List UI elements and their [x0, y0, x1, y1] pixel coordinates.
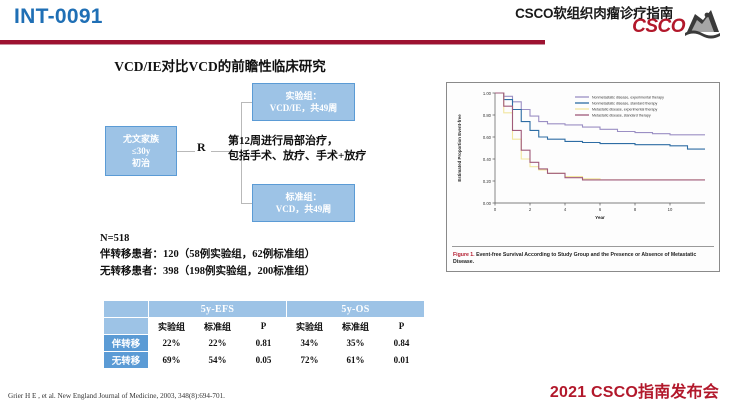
svg-text:0.00: 0.00: [483, 201, 492, 206]
randomization-label: R: [197, 140, 206, 155]
stats-total: N=518: [100, 231, 315, 247]
table-corner-cell: [104, 301, 149, 318]
results-table: 5y-EFS 5y-OS 实验组 标准组 P 实验组 标准组 P 伴转移 22%…: [103, 300, 425, 369]
csco-logo: CSCO: [611, 14, 723, 46]
cell-nonmet-os-p: 0.01: [379, 352, 425, 369]
slide-root: INT-0091 CSCO软组织肉瘤诊疗指南 CSCO VCD/IE对比VCD的…: [0, 0, 731, 405]
kaplan-meier-chart: 0.000.200.400.600.801.000246810YearEstim…: [447, 83, 719, 238]
cell-nonmet-efs-p: 0.05: [241, 352, 287, 369]
cell-met-os-exp: 34%: [287, 335, 333, 352]
svg-text:2: 2: [529, 207, 532, 212]
citation: Grier H E , et al. New England Journal o…: [8, 392, 225, 400]
cell-met-efs-std: 22%: [195, 335, 241, 352]
svg-text:1.00: 1.00: [483, 91, 492, 96]
svg-text:Metastatic disease, experiment: Metastatic disease, experimental therapy: [592, 108, 658, 112]
cell-nonmet-efs-std: 54%: [195, 352, 241, 369]
table-group-header-os: 5y-OS: [287, 301, 425, 318]
svg-text:Metastatic disease, standard t: Metastatic disease, standard therapy: [592, 114, 651, 118]
svg-text:0.20: 0.20: [483, 179, 492, 184]
csco-logo-text: CSCO: [632, 16, 685, 38]
cell-met-efs-p: 0.81: [241, 335, 287, 352]
standard-arm-line2: VCD，共49周: [276, 203, 332, 215]
table-subheader-efs-exp: 实验组: [149, 318, 195, 335]
svg-text:4: 4: [564, 207, 567, 212]
connector-pop-to-r: [177, 151, 195, 152]
csco-emblem-icon: [681, 2, 723, 44]
cell-nonmet-os-std: 61%: [333, 352, 379, 369]
svg-text:0.40: 0.40: [483, 157, 492, 162]
survival-chart-figure: 0.000.200.400.600.801.000246810YearEstim…: [446, 82, 720, 272]
table-row-label-nonmetastatic: 无转移: [104, 352, 149, 369]
figure-caption: Figure 1. Event-free Survival According …: [453, 252, 713, 267]
svg-text:0: 0: [494, 207, 497, 212]
study-flow-diagram: 尤文家族 ≤30y 初治 R 实验组： VCD/IE，共49周 标准组： VCD…: [0, 78, 440, 233]
stats-metastatic: 伴转移患者：120（58例实验组，62例标准组）: [100, 247, 315, 263]
table-corner-cell-2: [104, 318, 149, 335]
header-code: INT-0091: [14, 5, 103, 29]
svg-text:Year: Year: [595, 215, 605, 220]
table-subheader-row: 实验组 标准组 P 实验组 标准组 P: [104, 318, 425, 335]
population-line1: 尤文家族: [123, 133, 159, 145]
svg-text:0.80: 0.80: [483, 113, 492, 118]
header-accent-rule-thin: [0, 44, 545, 45]
svg-text:Nonmetastatic disease, experim: Nonmetastatic disease, experimental ther…: [592, 96, 664, 100]
standard-arm-box: 标准组： VCD，共49周: [252, 184, 355, 222]
table-group-header-efs: 5y-EFS: [149, 301, 287, 318]
table-subheader-os-p: P: [379, 318, 425, 335]
svg-text:10: 10: [668, 207, 673, 212]
page-title: VCD/IE对比VCD的前瞻性临床研究: [0, 55, 440, 75]
population-line2: ≤30y: [132, 145, 150, 157]
svg-text:Nonmetastatic disease, standar: Nonmetastatic disease, standard therapy: [592, 102, 658, 106]
experimental-arm-line2: VCD/IE，共49周: [270, 102, 338, 114]
svg-text:6: 6: [599, 207, 602, 212]
table-row-label-metastatic: 伴转移: [104, 335, 149, 352]
experimental-arm-line1: 实验组：: [285, 90, 321, 102]
table-subheader-os-exp: 实验组: [287, 318, 333, 335]
svg-text:0.60: 0.60: [483, 135, 492, 140]
local-treatment-line1: 第12周进行局部治疗，: [228, 134, 443, 149]
svg-text:8: 8: [634, 207, 637, 212]
caption-divider: [452, 246, 714, 247]
cell-met-efs-exp: 22%: [149, 335, 195, 352]
svg-text:Estimated Proportion Event-fre: Estimated Proportion Event-free: [457, 114, 462, 182]
standard-arm-line1: 标准组：: [285, 191, 321, 203]
table-row: 伴转移 22% 22% 0.81 34% 35% 0.84: [104, 335, 425, 352]
table-row: 无转移 69% 54% 0.05 72% 61% 0.01: [104, 352, 425, 369]
population-box: 尤文家族 ≤30y 初治: [105, 126, 177, 176]
table-subheader-efs-p: P: [241, 318, 287, 335]
cell-met-os-std: 35%: [333, 335, 379, 352]
stats-nonmetastatic: 无转移患者：398（198例实验组，200标准组）: [100, 264, 315, 280]
local-treatment-note: 第12周进行局部治疗， 包括手术、放疗、手术+放疗: [228, 134, 443, 164]
table-subheader-os-std: 标准组: [333, 318, 379, 335]
enrollment-stats: N=518 伴转移患者：120（58例实验组，62例标准组） 无转移患者：398…: [100, 231, 315, 280]
figure-number: Figure 1.: [453, 252, 475, 258]
table-subheader-efs-std: 标准组: [195, 318, 241, 335]
experimental-arm-box: 实验组： VCD/IE，共49周: [252, 83, 355, 121]
figure-caption-text: Event-free Survival According to Study G…: [453, 252, 696, 266]
cell-met-os-p: 0.84: [379, 335, 425, 352]
population-line3: 初治: [132, 157, 150, 169]
footer-brand: 2021 CSCO指南发布会: [550, 378, 719, 402]
table-group-header-row: 5y-EFS 5y-OS: [104, 301, 425, 318]
cell-nonmet-os-exp: 72%: [287, 352, 333, 369]
cell-nonmet-efs-exp: 69%: [149, 352, 195, 369]
local-treatment-line2: 包括手术、放疗、手术+放疗: [228, 149, 443, 164]
